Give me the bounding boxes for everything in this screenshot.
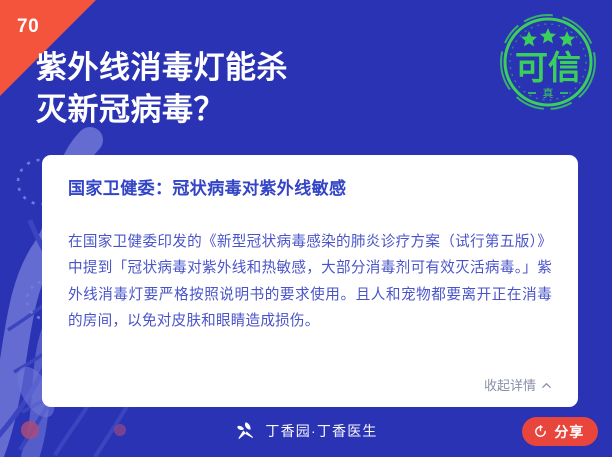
stamp-main-text: 可信	[515, 49, 581, 86]
footer-bar: 丁香园·丁香医生 分享	[0, 407, 612, 457]
chevron-up-icon	[541, 379, 552, 390]
collapse-details-button[interactable]: 收起详情	[484, 375, 552, 394]
collapse-details-label: 收起详情	[484, 375, 536, 394]
brand-lockup: 丁香园·丁香医生	[234, 420, 377, 442]
badge-number: 70	[17, 17, 39, 36]
infographic-card: 70 紫外线消毒灯能杀 灭新冠病毒？ 可信 真 国家卫健委：冠状病毒	[0, 0, 612, 457]
credibility-stamp-icon: 可信 真	[496, 10, 600, 114]
share-button[interactable]: 分享	[522, 417, 598, 446]
page-title: 紫外线消毒灯能杀 灭新冠病毒？	[36, 47, 466, 132]
clove-leaf-logo-icon	[234, 420, 256, 442]
share-refresh-icon	[533, 424, 548, 439]
share-label: 分享	[554, 422, 584, 442]
card-body-text: 在国家卫健委印发的《新型冠状病毒感染的肺炎诊疗方案（试行第五版）》中提到「冠状病…	[68, 229, 552, 335]
stamp-sub-text: 真	[543, 86, 554, 100]
content-card: 国家卫健委：冠状病毒对紫外线敏感 在国家卫健委印发的《新型冠状病毒感染的肺炎诊疗…	[42, 155, 578, 407]
card-title: 国家卫健委：冠状病毒对紫外线敏感	[68, 177, 552, 201]
brand-name: 丁香园·丁香医生	[265, 421, 377, 441]
